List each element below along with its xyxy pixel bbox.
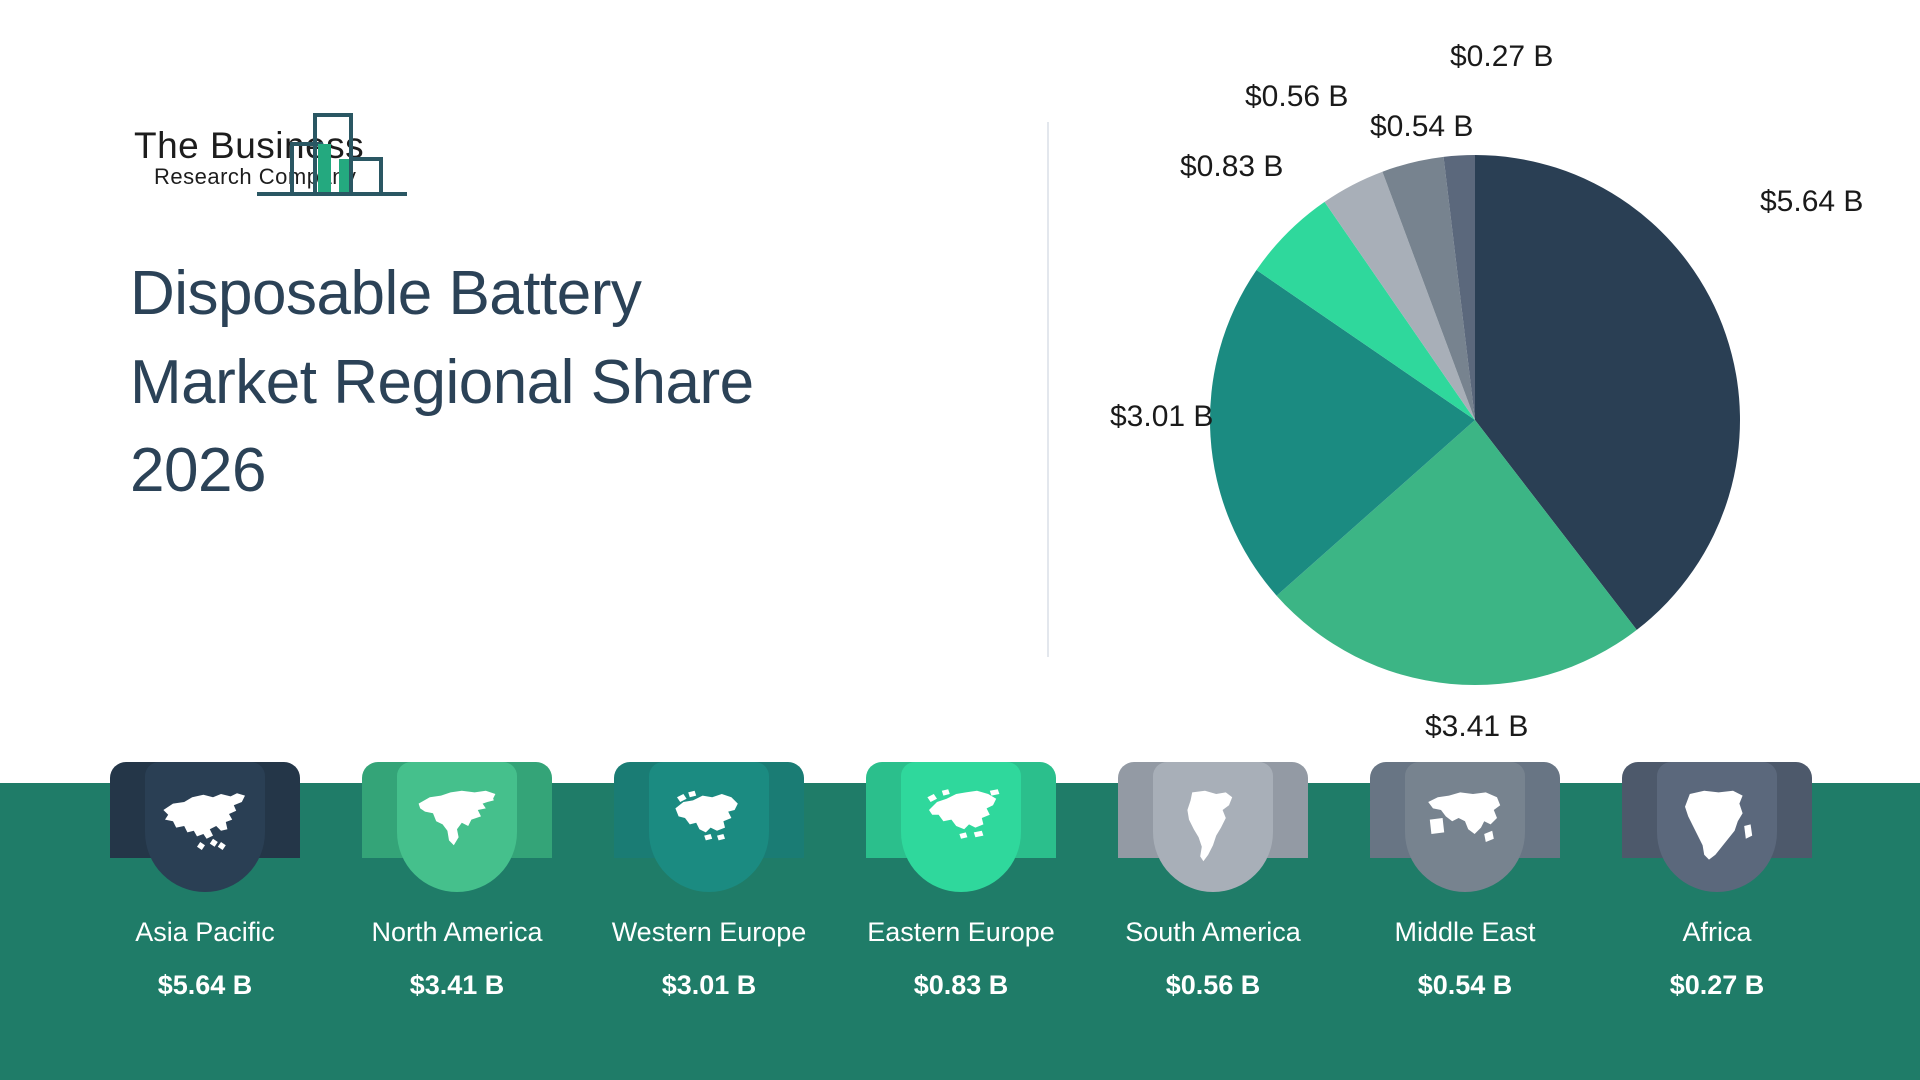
region-card-name: Africa — [1600, 917, 1834, 948]
region-card-value: $3.41 B — [340, 970, 574, 1001]
region-card-name: Western Europe — [592, 917, 826, 948]
africa-map-icon — [1657, 776, 1777, 876]
pie-chart: $5.64 B$3.41 B$3.01 B$0.83 B$0.56 B$0.54… — [1080, 40, 1880, 730]
region-card-value: $0.27 B — [1600, 970, 1834, 1001]
region-card-western-europe[interactable]: Western Europe$3.01 B — [614, 762, 804, 1080]
asia-pacific-map-icon — [145, 776, 265, 876]
pie-chart-svg — [1080, 40, 1880, 730]
region-card-south-america[interactable]: South America$0.56 B — [1118, 762, 1308, 1080]
pie-value-label: $3.41 B — [1425, 710, 1528, 744]
region-card-value: $5.64 B — [88, 970, 322, 1001]
bar-chart-logo-icon: The Business Research Company — [132, 106, 432, 206]
region-card-north-america[interactable]: North America$3.41 B — [362, 762, 552, 1080]
pie-value-label: $0.56 B — [1245, 80, 1348, 114]
region-card-name: Middle East — [1348, 917, 1582, 948]
page-title-line-3: 2026 — [130, 427, 920, 516]
pie-value-label: $3.01 B — [1110, 400, 1213, 434]
north-america-map-icon — [397, 776, 517, 876]
region-card-asia-pacific[interactable]: Asia Pacific$5.64 B — [110, 762, 300, 1080]
region-card-value: $0.54 B — [1348, 970, 1582, 1001]
region-card-value: $3.01 B — [592, 970, 826, 1001]
middle-east-map-icon — [1405, 776, 1525, 876]
page-title-line-1: Disposable Battery — [130, 250, 920, 339]
eastern-europe-map-icon — [901, 776, 1021, 876]
company-logo: The Business Research Company — [132, 106, 432, 206]
region-card-name: North America — [340, 917, 574, 948]
region-card-name: Eastern Europe — [844, 917, 1078, 948]
pie-value-label: $0.27 B — [1450, 40, 1553, 74]
region-card-name: Asia Pacific — [88, 917, 322, 948]
page-title: Disposable Battery Market Regional Share… — [130, 250, 920, 516]
region-card-middle-east[interactable]: Middle East$0.54 B — [1370, 762, 1560, 1080]
western-europe-map-icon — [649, 776, 769, 876]
pie-slice-group — [1210, 155, 1740, 685]
infographic-canvas: The Business Research Company Disposable… — [0, 0, 1920, 1080]
south-america-map-icon — [1153, 776, 1273, 876]
region-card-value: $0.83 B — [844, 970, 1078, 1001]
pie-value-label: $0.83 B — [1180, 150, 1283, 184]
region-card-eastern-europe[interactable]: Eastern Europe$0.83 B — [866, 762, 1056, 1080]
region-card-africa[interactable]: Africa$0.27 B — [1622, 762, 1812, 1080]
pie-value-label: $5.64 B — [1760, 185, 1863, 219]
region-card-name: South America — [1096, 917, 1330, 948]
region-card-value: $0.56 B — [1096, 970, 1330, 1001]
pie-value-label: $0.54 B — [1370, 110, 1473, 144]
page-title-line-2: Market Regional Share — [130, 339, 920, 428]
section-divider — [1047, 122, 1049, 657]
